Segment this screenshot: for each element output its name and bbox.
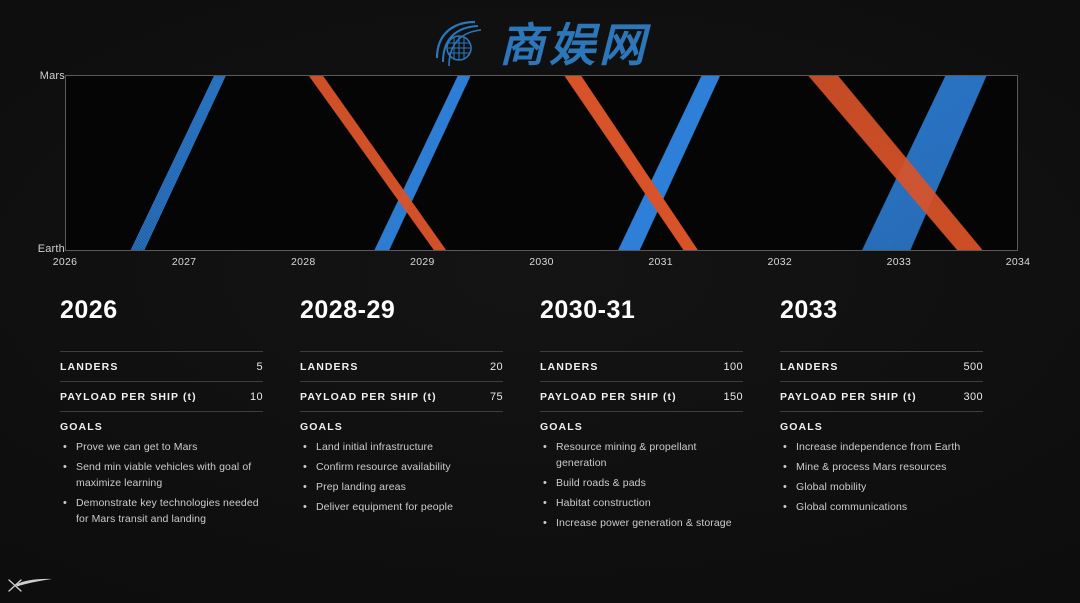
stat-value: 75 xyxy=(490,391,503,403)
transit-chart: Mars Earth 20262027202820292030203120322… xyxy=(0,0,1080,282)
stat-value: 20 xyxy=(490,361,503,373)
column-year: 2033 xyxy=(780,296,983,325)
stat-label: LANDERS xyxy=(60,361,118,373)
stat-value: 100 xyxy=(723,361,743,373)
stat-label: PAYLOAD PER SHIP (t) xyxy=(300,391,437,403)
stat-value: 10 xyxy=(250,391,263,403)
stat-label: LANDERS xyxy=(780,361,838,373)
stat-row: PAYLOAD PER SHIP (t)300 xyxy=(780,381,983,411)
column-year: 2028-29 xyxy=(300,296,503,325)
x-axis-tick-2031: 2031 xyxy=(648,256,673,268)
goal-item: Habitat construction xyxy=(540,496,743,512)
x-axis-tick-2030: 2030 xyxy=(529,256,554,268)
stat-value: 5 xyxy=(256,361,263,373)
goal-item: Prove we can get to Mars xyxy=(60,440,263,456)
goal-item: Increase independence from Earth xyxy=(780,440,983,456)
goal-item: Resource mining & propellant generation xyxy=(540,440,743,472)
goals-list: Prove we can get to MarsSend min viable … xyxy=(60,440,263,528)
goal-item: Land initial infrastructure xyxy=(300,440,503,456)
stat-value: 500 xyxy=(963,361,983,373)
column-year: 2030-31 xyxy=(540,296,743,325)
goals-list: Land initial infrastructureConfirm resou… xyxy=(300,440,503,516)
goal-item: Increase power generation & storage xyxy=(540,516,743,532)
goal-item: Demonstrate key technologies needed for … xyxy=(60,496,263,528)
milestone-column-2026: 2026LANDERS5PAYLOAD PER SHIP (t)10GOALSP… xyxy=(60,296,300,561)
stat-label: PAYLOAD PER SHIP (t) xyxy=(540,391,677,403)
milestone-column-2028-29: 2028-29LANDERS20PAYLOAD PER SHIP (t)75GO… xyxy=(300,296,540,561)
trajectory-lines xyxy=(66,76,1017,250)
x-axis-tick-2027: 2027 xyxy=(172,256,197,268)
milestone-column-2033: 2033LANDERS500PAYLOAD PER SHIP (t)300GOA… xyxy=(780,296,1020,561)
goal-item: Confirm resource availability xyxy=(300,460,503,476)
stat-row: PAYLOAD PER SHIP (t)75 xyxy=(300,381,503,411)
stat-label: PAYLOAD PER SHIP (t) xyxy=(60,391,197,403)
stat-row: PAYLOAD PER SHIP (t)150 xyxy=(540,381,743,411)
x-axis-tick-2032: 2032 xyxy=(767,256,792,268)
x-axis-tick-2029: 2029 xyxy=(410,256,435,268)
x-axis-tick-2033: 2033 xyxy=(887,256,912,268)
goals-heading: GOALS xyxy=(60,411,263,433)
stat-label: PAYLOAD PER SHIP (t) xyxy=(780,391,917,403)
goals-list: Increase independence from EarthMine & p… xyxy=(780,440,983,516)
x-axis-tick-2026: 2026 xyxy=(53,256,78,268)
stat-value: 300 xyxy=(963,391,983,403)
y-axis-label-earth: Earth xyxy=(25,243,65,255)
goals-heading: GOALS xyxy=(300,411,503,433)
stat-label: LANDERS xyxy=(300,361,358,373)
x-axis-tick-2034: 2034 xyxy=(1006,256,1031,268)
chart-plot-area xyxy=(65,75,1018,251)
goals-heading: GOALS xyxy=(540,411,743,433)
stat-row: LANDERS20 xyxy=(300,351,503,381)
stat-label: LANDERS xyxy=(540,361,598,373)
goal-item: Mine & process Mars resources xyxy=(780,460,983,476)
spacex-logo-icon xyxy=(8,573,54,595)
goal-item: Deliver equipment for people xyxy=(300,500,503,516)
page-root: Mars Earth 20262027202820292030203120322… xyxy=(0,0,1080,603)
milestone-column-2030-31: 2030-31LANDERS100PAYLOAD PER SHIP (t)150… xyxy=(540,296,780,561)
y-axis-label-mars: Mars xyxy=(25,70,65,82)
milestone-columns: 2026LANDERS5PAYLOAD PER SHIP (t)10GOALSP… xyxy=(0,296,1080,561)
goals-list: Resource mining & propellant generationB… xyxy=(540,440,743,532)
stat-row: LANDERS100 xyxy=(540,351,743,381)
stat-value: 150 xyxy=(723,391,743,403)
stat-row: LANDERS5 xyxy=(60,351,263,381)
goals-heading: GOALS xyxy=(780,411,983,433)
goal-item: Global communications xyxy=(780,500,983,516)
stat-row: PAYLOAD PER SHIP (t)10 xyxy=(60,381,263,411)
column-year: 2026 xyxy=(60,296,263,325)
goal-item: Send min viable vehicles with goal of ma… xyxy=(60,460,263,492)
goal-item: Global mobility xyxy=(780,480,983,496)
x-axis: 202620272028202920302031203220332034 xyxy=(65,256,1018,276)
x-axis-tick-2028: 2028 xyxy=(291,256,316,268)
stat-row: LANDERS500 xyxy=(780,351,983,381)
goal-item: Build roads & pads xyxy=(540,476,743,492)
goal-item: Prep landing areas xyxy=(300,480,503,496)
